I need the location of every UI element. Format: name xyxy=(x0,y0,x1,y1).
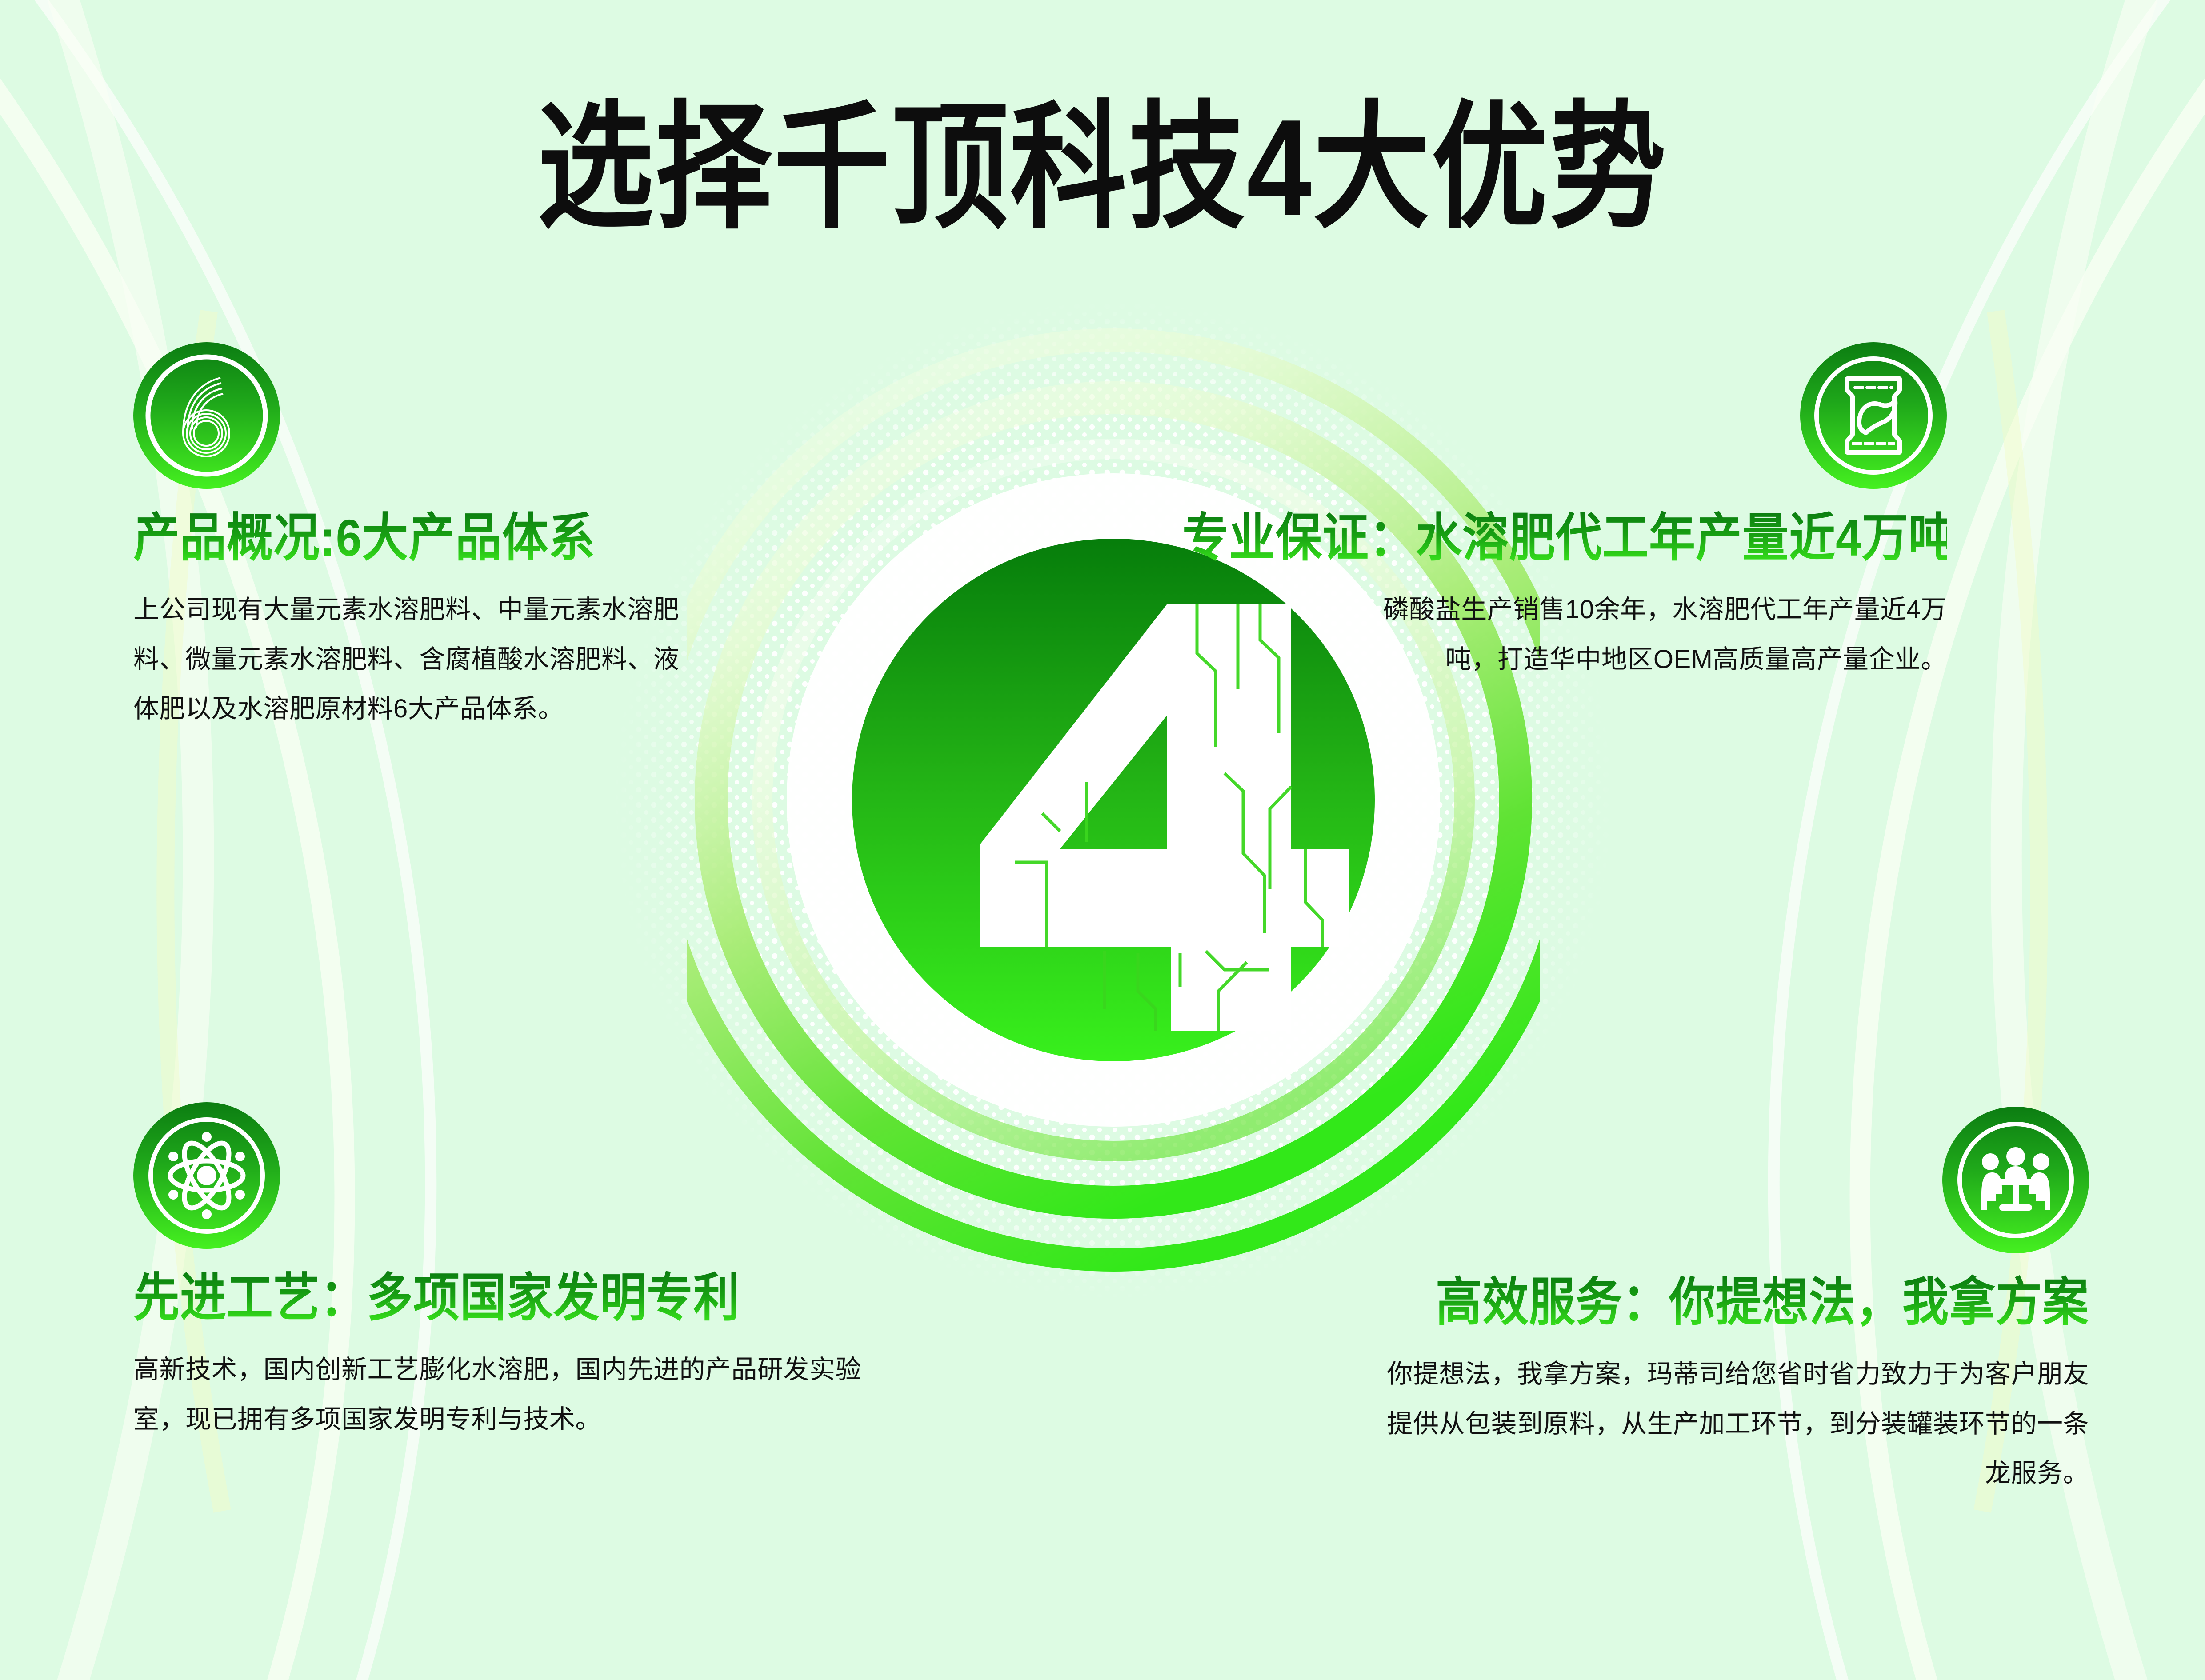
feature-efficient-service: 高效服务：你提想法，我拿方案 你提想法，我拿方案，玛蒂司给您省时省力致力于为客户… xyxy=(1316,1107,2089,1498)
feature-body: 你提想法，我拿方案，玛蒂司给您省时省力致力于为客户朋友提供从包装到原料，从生产加… xyxy=(1382,1349,2089,1498)
feature-heading: 高效服务：你提想法，我拿方案 xyxy=(1316,1274,2089,1332)
feature-body: 上公司现有大量元素水溶肥料、中量元素水溶肥料、微量元素水溶肥料、含腐植酸水溶肥料… xyxy=(133,585,693,733)
fertilizer-bag-icon xyxy=(1800,342,1947,489)
page-title: 选择千顶科技4大优势 xyxy=(0,96,2205,240)
feature-product-overview: 产品概况:6大产品体系 上公司现有大量元素水溶肥料、中量元素水溶肥料、微量元素水… xyxy=(133,342,724,734)
meeting-table-icon xyxy=(1942,1107,2089,1253)
number-six-badge-icon xyxy=(133,342,280,489)
feature-heading: 先进工艺：多项国家发明专利 xyxy=(133,1269,889,1327)
feature-professional-guarantee: 专业保证：水溶肥代工年产量近4万吨 磷酸盐生产销售10余年，水溶肥代工年产量近4… xyxy=(1182,342,1947,684)
feature-body: 高新技术，国内创新工艺膨化水溶肥，国内先进的产品研发实验室，现已拥有多项国家发明… xyxy=(133,1345,871,1444)
feature-body: 磷酸盐生产销售10余年，水溶肥代工年产量近4万吨，打造华中地区OEM高质量高产量… xyxy=(1338,585,1947,684)
atom-icon xyxy=(133,1102,280,1249)
feature-heading: 产品概况:6大产品体系 xyxy=(133,509,724,567)
feature-heading: 专业保证：水溶肥代工年产量近4万吨 xyxy=(1182,509,1947,567)
infographic-canvas: 选择千顶科技4大优势 xyxy=(0,0,2205,1680)
feature-advanced-technology: 先进工艺：多项国家发明专利 高新技术，国内创新工艺膨化水溶肥，国内先进的产品研发… xyxy=(133,1102,889,1444)
